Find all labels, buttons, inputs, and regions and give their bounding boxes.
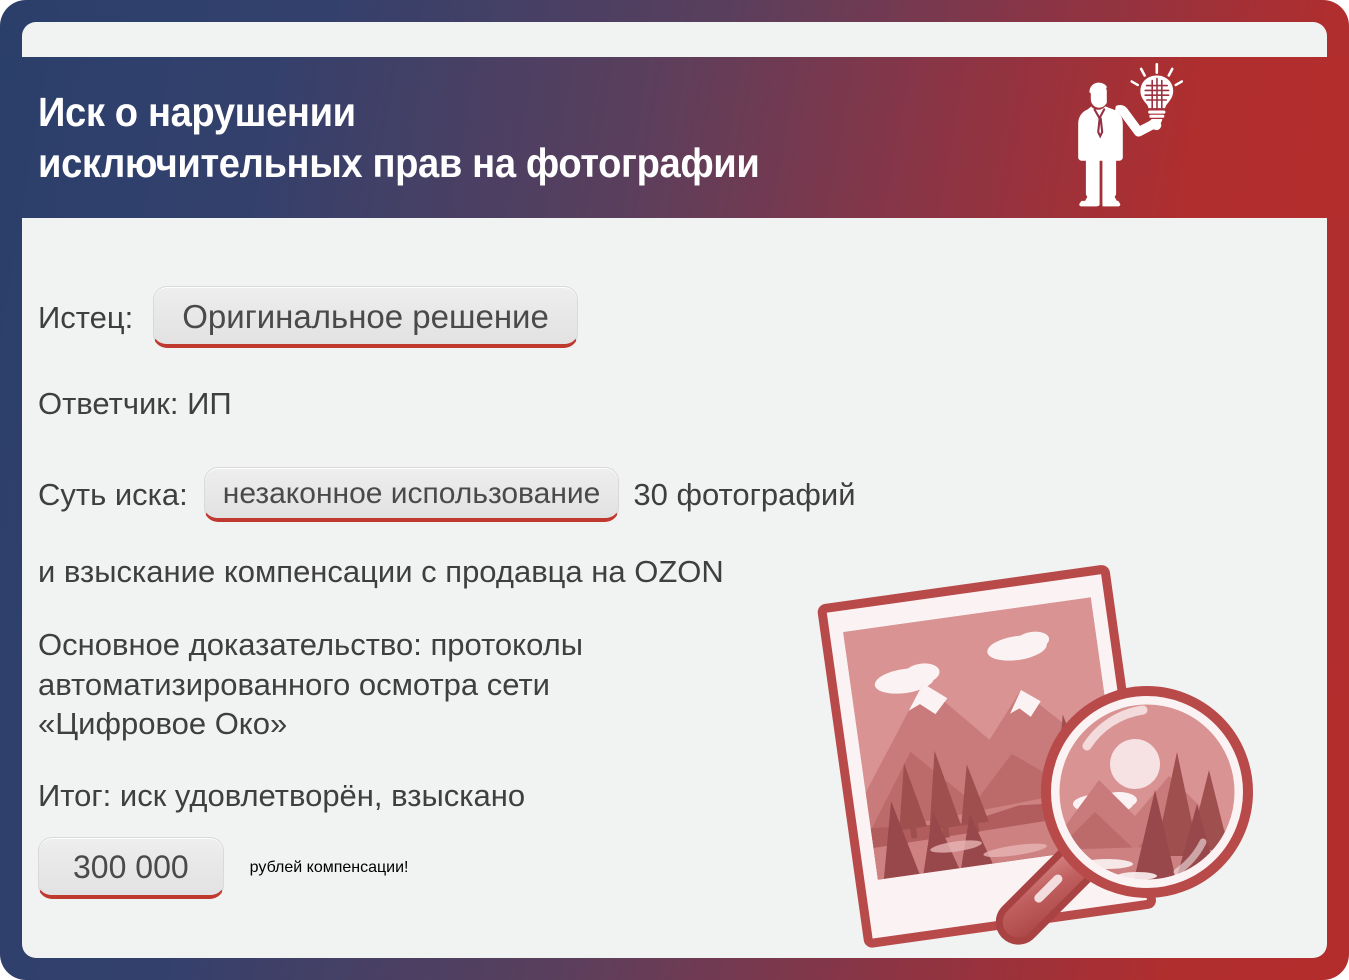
amount-value-pill: 300 000 [38, 837, 224, 899]
claim-label: Суть иска: [38, 479, 188, 510]
claim-tail-text: 30 фотографий [633, 479, 855, 510]
case-summary: Истец: Оригинальное решение Ответчик: ИП… [38, 218, 1098, 899]
defendant-row: Ответчик: ИП [38, 388, 1098, 419]
evidence-text: Основное доказательство: протоколы автом… [38, 625, 738, 744]
businessman-with-lightbulb-icon [1069, 61, 1189, 216]
result-text: Итог: иск удовлетворён, взыскано [38, 780, 1098, 811]
card-body: Истец: Оригинальное решение Ответчик: ИП… [22, 218, 1327, 958]
plaintiff-label: Истец: [38, 302, 133, 333]
card-header: Иск о нарушении исключительных прав на ф… [0, 57, 1349, 218]
claim-second-line: и взыскание компенсации с продавца на OZ… [38, 556, 1098, 587]
amount-row: 300 000 рублей компенсации! [38, 837, 1098, 899]
claim-highlight-pill: незаконное использование [204, 467, 620, 522]
infographic-card: Иск о нарушении исключительных прав на ф… [0, 0, 1349, 980]
plaintiff-value-pill: Оригинальное решение [153, 286, 578, 348]
page-title: Иск о нарушении исключительных прав на ф… [38, 87, 759, 187]
claim-row: Суть иска: незаконное использование 30 ф… [38, 467, 1098, 522]
plaintiff-row: Истец: Оригинальное решение [38, 286, 1098, 348]
card-top-strip [22, 22, 1327, 58]
amount-tail-text: рублей компенсации! [250, 859, 409, 877]
